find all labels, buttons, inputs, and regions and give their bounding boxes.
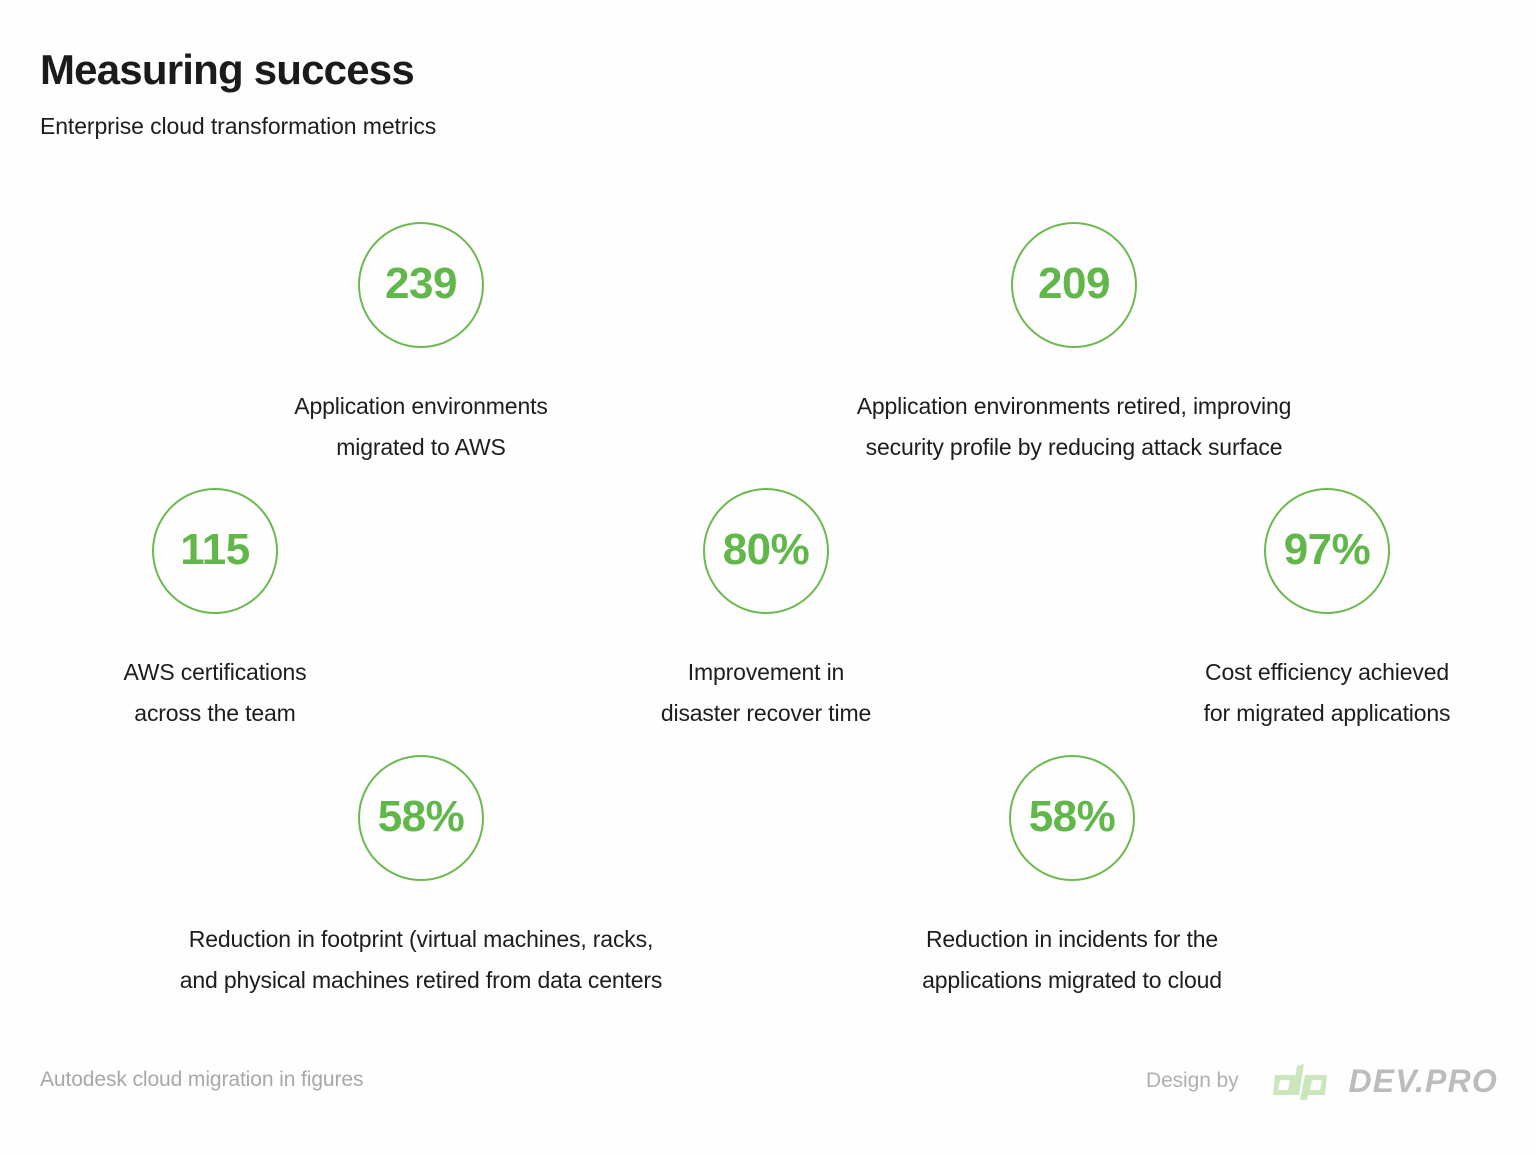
- dp-logo-icon: [1271, 1062, 1333, 1100]
- metric-app-environments-migrated: 239 Application environments migrated to…: [231, 222, 611, 468]
- metric-value: 209: [1038, 262, 1110, 306]
- metric-caption: Improvement in disaster recover time: [576, 652, 956, 734]
- metric-circle: 80%: [703, 488, 829, 614]
- metric-value: 58%: [1029, 795, 1116, 839]
- metric-value: 239: [385, 262, 457, 306]
- metric-app-environments-retired: 209 Application environments retired, im…: [774, 222, 1374, 468]
- metric-value: 58%: [378, 795, 465, 839]
- metric-value: 80%: [723, 528, 810, 572]
- metric-value: 115: [180, 528, 249, 572]
- metric-circle: 58%: [358, 755, 484, 881]
- metric-incident-reduction: 58% Reduction in incidents for the appli…: [822, 755, 1322, 1001]
- devpro-logo: DEV.PRO: [1271, 1062, 1499, 1100]
- footer-note: Autodesk cloud migration in figures: [40, 1068, 363, 1092]
- metric-circle: 209: [1011, 222, 1137, 348]
- metric-value: 97%: [1284, 528, 1371, 572]
- footer-brand: Design by DEV.PRO: [1146, 1062, 1498, 1100]
- metric-cost-efficiency: 97% Cost efficiency achieved for migrate…: [1137, 488, 1517, 734]
- infographic-slide: Measuring success Enterprise cloud trans…: [0, 0, 1536, 1155]
- design-by-label: Design by: [1146, 1069, 1238, 1093]
- metric-caption: Application environments retired, improv…: [774, 386, 1374, 468]
- metric-circle: 239: [358, 222, 484, 348]
- metric-caption: Reduction in incidents for the applicati…: [822, 919, 1322, 1001]
- metric-circle: 58%: [1009, 755, 1135, 881]
- metric-caption: Application environments migrated to AWS: [231, 386, 611, 468]
- metric-footprint-reduction: 58% Reduction in footprint (virtual mach…: [120, 755, 722, 1001]
- metric-disaster-recovery-improvement: 80% Improvement in disaster recover time: [576, 488, 956, 734]
- metric-caption: AWS certifications across the team: [25, 652, 405, 734]
- brand-wordmark: DEV.PRO: [1349, 1065, 1499, 1097]
- metric-circle: 97%: [1264, 488, 1390, 614]
- metric-caption: Cost efficiency achieved for migrated ap…: [1137, 652, 1517, 734]
- header: Measuring success Enterprise cloud trans…: [40, 46, 940, 140]
- page-subtitle: Enterprise cloud transformation metrics: [40, 113, 940, 140]
- metric-caption: Reduction in footprint (virtual machines…: [120, 919, 722, 1001]
- page-title: Measuring success: [40, 46, 940, 93]
- metric-circle: 115: [152, 488, 278, 614]
- metric-aws-certifications: 115 AWS certifications across the team: [25, 488, 405, 734]
